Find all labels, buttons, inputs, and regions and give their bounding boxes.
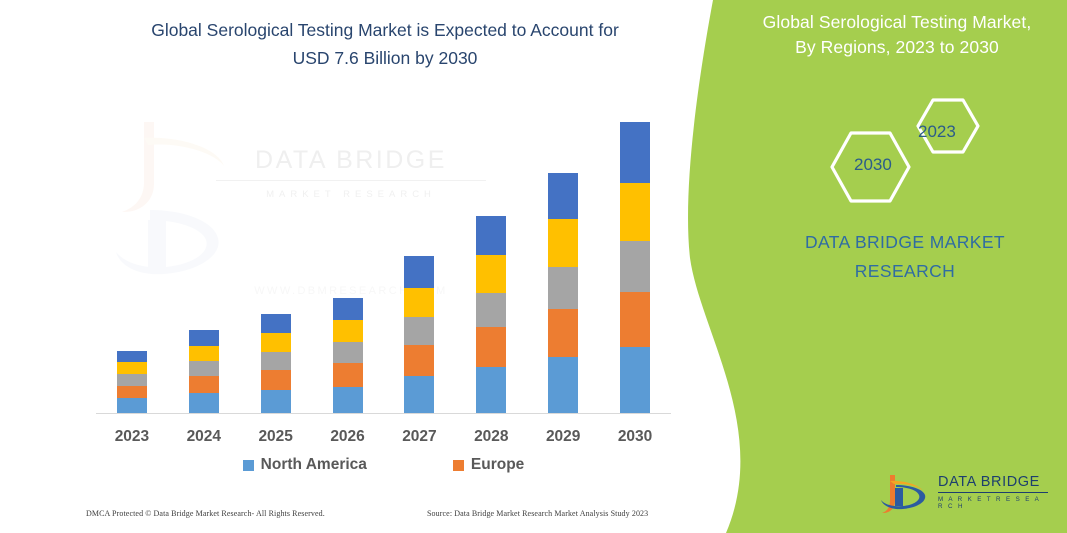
hexagon-2030-label: 2030: [854, 155, 892, 175]
bar-segment[interactable]: [261, 370, 291, 390]
chart-plot-area: DATA BRIDGE MARKET RESEARCH WWW.DBMRESEA…: [96, 120, 671, 415]
x-tick-2026: 2026: [312, 428, 384, 446]
bar-segment[interactable]: [117, 398, 147, 413]
bar-column-2023[interactable]: [96, 120, 168, 413]
x-tick-2030: 2030: [599, 428, 671, 446]
x-tick-2023: 2023: [96, 428, 168, 446]
bar-segment[interactable]: [189, 330, 219, 346]
bar-segment[interactable]: [333, 320, 363, 342]
bar-segment[interactable]: [189, 361, 219, 376]
bar-segment[interactable]: [404, 345, 434, 377]
bar-segment[interactable]: [620, 183, 650, 241]
bar-segment[interactable]: [620, 122, 650, 183]
bar-stack: [117, 351, 147, 413]
panel-brand-line2: RESEARCH: [760, 257, 1050, 286]
bar-segment[interactable]: [548, 357, 578, 413]
logo-mark-icon: [876, 471, 932, 517]
x-axis-tick-labels: 20232024202520262027202820292030: [96, 428, 671, 446]
x-tick-2027: 2027: [384, 428, 456, 446]
panel-heading-line1: Global Serological Testing Market,: [763, 12, 1032, 32]
bar-segment[interactable]: [476, 216, 506, 255]
x-tick-2028: 2028: [455, 428, 527, 446]
bar-column-2027[interactable]: [384, 120, 456, 413]
bar-segment[interactable]: [333, 342, 363, 363]
panel-heading: Global Serological Testing Market, By Re…: [742, 10, 1052, 60]
bar-column-2025[interactable]: [240, 120, 312, 413]
bar-segment[interactable]: [404, 317, 434, 344]
bar-column-2029[interactable]: [527, 120, 599, 413]
bar-segment[interactable]: [404, 376, 434, 413]
logo-text: DATA BRIDGE M A R K E T R E S E A R C H: [938, 474, 1048, 510]
x-tick-2025: 2025: [240, 428, 312, 446]
legend-swatch: [243, 460, 254, 471]
bar-stack: [548, 173, 578, 413]
bar-segment[interactable]: [117, 351, 147, 363]
bar-segment[interactable]: [620, 292, 650, 347]
legend-label: North America: [261, 456, 367, 474]
bar-stack: [404, 256, 434, 413]
bar-stack: [620, 122, 650, 413]
bar-column-2030[interactable]: [599, 120, 671, 413]
bar-segment[interactable]: [548, 173, 578, 219]
legend-label: Europe: [471, 456, 524, 474]
bar-segment[interactable]: [476, 293, 506, 327]
logo-title: DATA BRIDGE: [938, 474, 1048, 493]
bar-segment[interactable]: [620, 347, 650, 413]
bar-stack: [261, 314, 291, 413]
bar-segment[interactable]: [476, 367, 506, 413]
x-tick-2029: 2029: [527, 428, 599, 446]
bar-segment[interactable]: [117, 362, 147, 374]
bar-segment[interactable]: [333, 298, 363, 320]
bar-segment[interactable]: [261, 390, 291, 413]
logo-subtitle: M A R K E T R E S E A R C H: [938, 496, 1048, 510]
x-tick-2024: 2024: [168, 428, 240, 446]
bar-stack: [189, 330, 219, 413]
footer-copyright: DMCA Protected © Data Bridge Market Rese…: [86, 509, 325, 518]
panel-brand-name: DATA BRIDGE MARKET RESEARCH: [760, 228, 1050, 286]
bar-series-container: [96, 120, 671, 413]
footer-source: Source: Data Bridge Market Research Mark…: [427, 509, 648, 518]
bar-segment[interactable]: [404, 288, 434, 318]
hexagon-group: 2030 2023: [820, 95, 990, 205]
bar-segment[interactable]: [620, 241, 650, 292]
bar-segment[interactable]: [189, 346, 219, 362]
data-bridge-logo: DATA BRIDGE M A R K E T R E S E A R C H: [876, 471, 1046, 517]
bar-segment[interactable]: [548, 309, 578, 357]
x-axis-line: [96, 413, 671, 414]
bar-segment[interactable]: [117, 386, 147, 399]
bar-segment[interactable]: [476, 327, 506, 367]
chart-legend: North AmericaEurope: [96, 456, 671, 474]
legend-item-north-america[interactable]: North America: [243, 456, 367, 474]
bar-segment[interactable]: [548, 219, 578, 266]
bar-segment[interactable]: [404, 256, 434, 288]
bar-column-2026[interactable]: [312, 120, 384, 413]
hexagon-2023-label: 2023: [918, 122, 956, 142]
bar-segment[interactable]: [261, 352, 291, 370]
bar-stack: [476, 216, 506, 413]
bar-segment[interactable]: [261, 333, 291, 352]
chart-title-line1: Global Serological Testing Market is Exp…: [100, 16, 670, 44]
legend-item-europe[interactable]: Europe: [453, 456, 524, 474]
panel-brand-line1: DATA BRIDGE MARKET: [760, 228, 1050, 257]
bar-segment[interactable]: [261, 314, 291, 333]
bar-segment[interactable]: [333, 387, 363, 413]
bar-column-2024[interactable]: [168, 120, 240, 413]
bar-segment[interactable]: [476, 255, 506, 293]
bar-segment[interactable]: [117, 374, 147, 386]
bar-segment[interactable]: [189, 376, 219, 393]
panel-heading-line2: By Regions, 2023 to 2030: [742, 35, 1052, 60]
bar-segment[interactable]: [548, 267, 578, 309]
bar-segment[interactable]: [189, 393, 219, 413]
bar-stack: [333, 298, 363, 413]
legend-swatch: [453, 460, 464, 471]
infographic-page: Global Serological Testing Market, By Re…: [0, 0, 1067, 533]
bar-column-2028[interactable]: [455, 120, 527, 413]
chart-title: Global Serological Testing Market is Exp…: [100, 16, 670, 72]
chart-title-line2: USD 7.6 Billion by 2030: [100, 44, 670, 72]
bar-segment[interactable]: [333, 363, 363, 386]
